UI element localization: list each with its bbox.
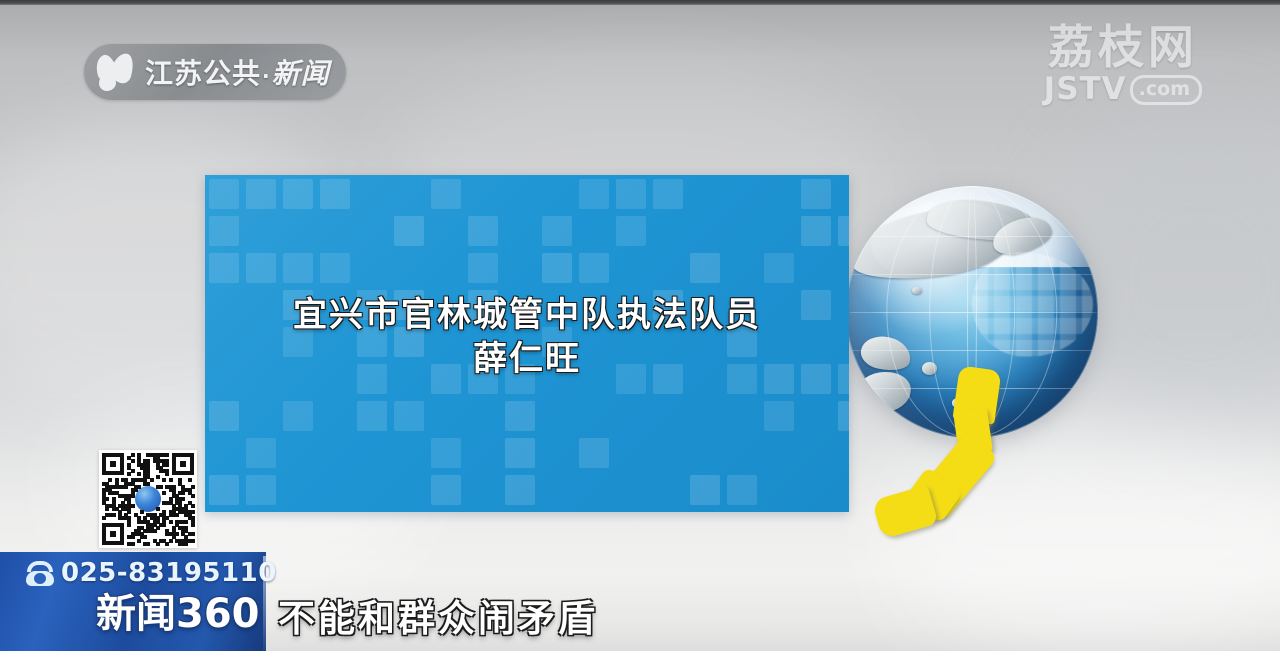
letterbox-band	[0, 0, 1280, 5]
program-name: 新闻360	[96, 594, 260, 634]
watermark-url: JSTV .com	[1044, 74, 1202, 105]
banner-divider	[263, 556, 266, 651]
interview-caption-box: 宜兴市官林城管中队执法队员 薛仁旺	[205, 175, 849, 512]
qr-code-canvas	[102, 453, 194, 545]
telephone-icon	[24, 560, 56, 586]
subtitle-text: 不能和群众闹矛盾	[278, 600, 598, 637]
qr-finder-pattern	[102, 453, 124, 475]
channel-name-main: 江苏公共	[145, 57, 261, 90]
caption-line-2: 薛仁旺	[205, 337, 849, 381]
water-droplet-icon	[93, 49, 139, 95]
hotline-group: 025-83195110	[24, 560, 277, 586]
channel-logo-bug: 江苏公共·新闻	[84, 44, 346, 100]
hotline-number: 025-83195110	[61, 560, 277, 586]
channel-name-separator: ·	[261, 64, 272, 88]
program-banner: 025-83195110 新闻360	[0, 552, 266, 651]
qr-finder-pattern	[102, 523, 124, 545]
video-frame: 江苏公共·新闻 荔枝网 JSTV .com	[0, 0, 1280, 651]
qr-code-icon[interactable]	[99, 450, 197, 548]
watermark-chinese-name: 荔枝网	[1044, 24, 1202, 70]
qr-finder-pattern	[172, 453, 194, 475]
telephone-handset-icon	[872, 366, 1004, 536]
caption-line-1: 宜兴市官林城管中队执法队员	[293, 295, 761, 335]
site-watermark: 荔枝网 JSTV .com	[1044, 24, 1202, 105]
watermark-tld: .com	[1130, 75, 1202, 105]
channel-name-sub: 新闻	[272, 57, 330, 90]
channel-name: 江苏公共·新闻	[145, 52, 330, 92]
caption-text: 宜兴市官林城管中队执法队员 薛仁旺	[205, 293, 849, 381]
watermark-site-name: JSTV	[1044, 74, 1127, 105]
